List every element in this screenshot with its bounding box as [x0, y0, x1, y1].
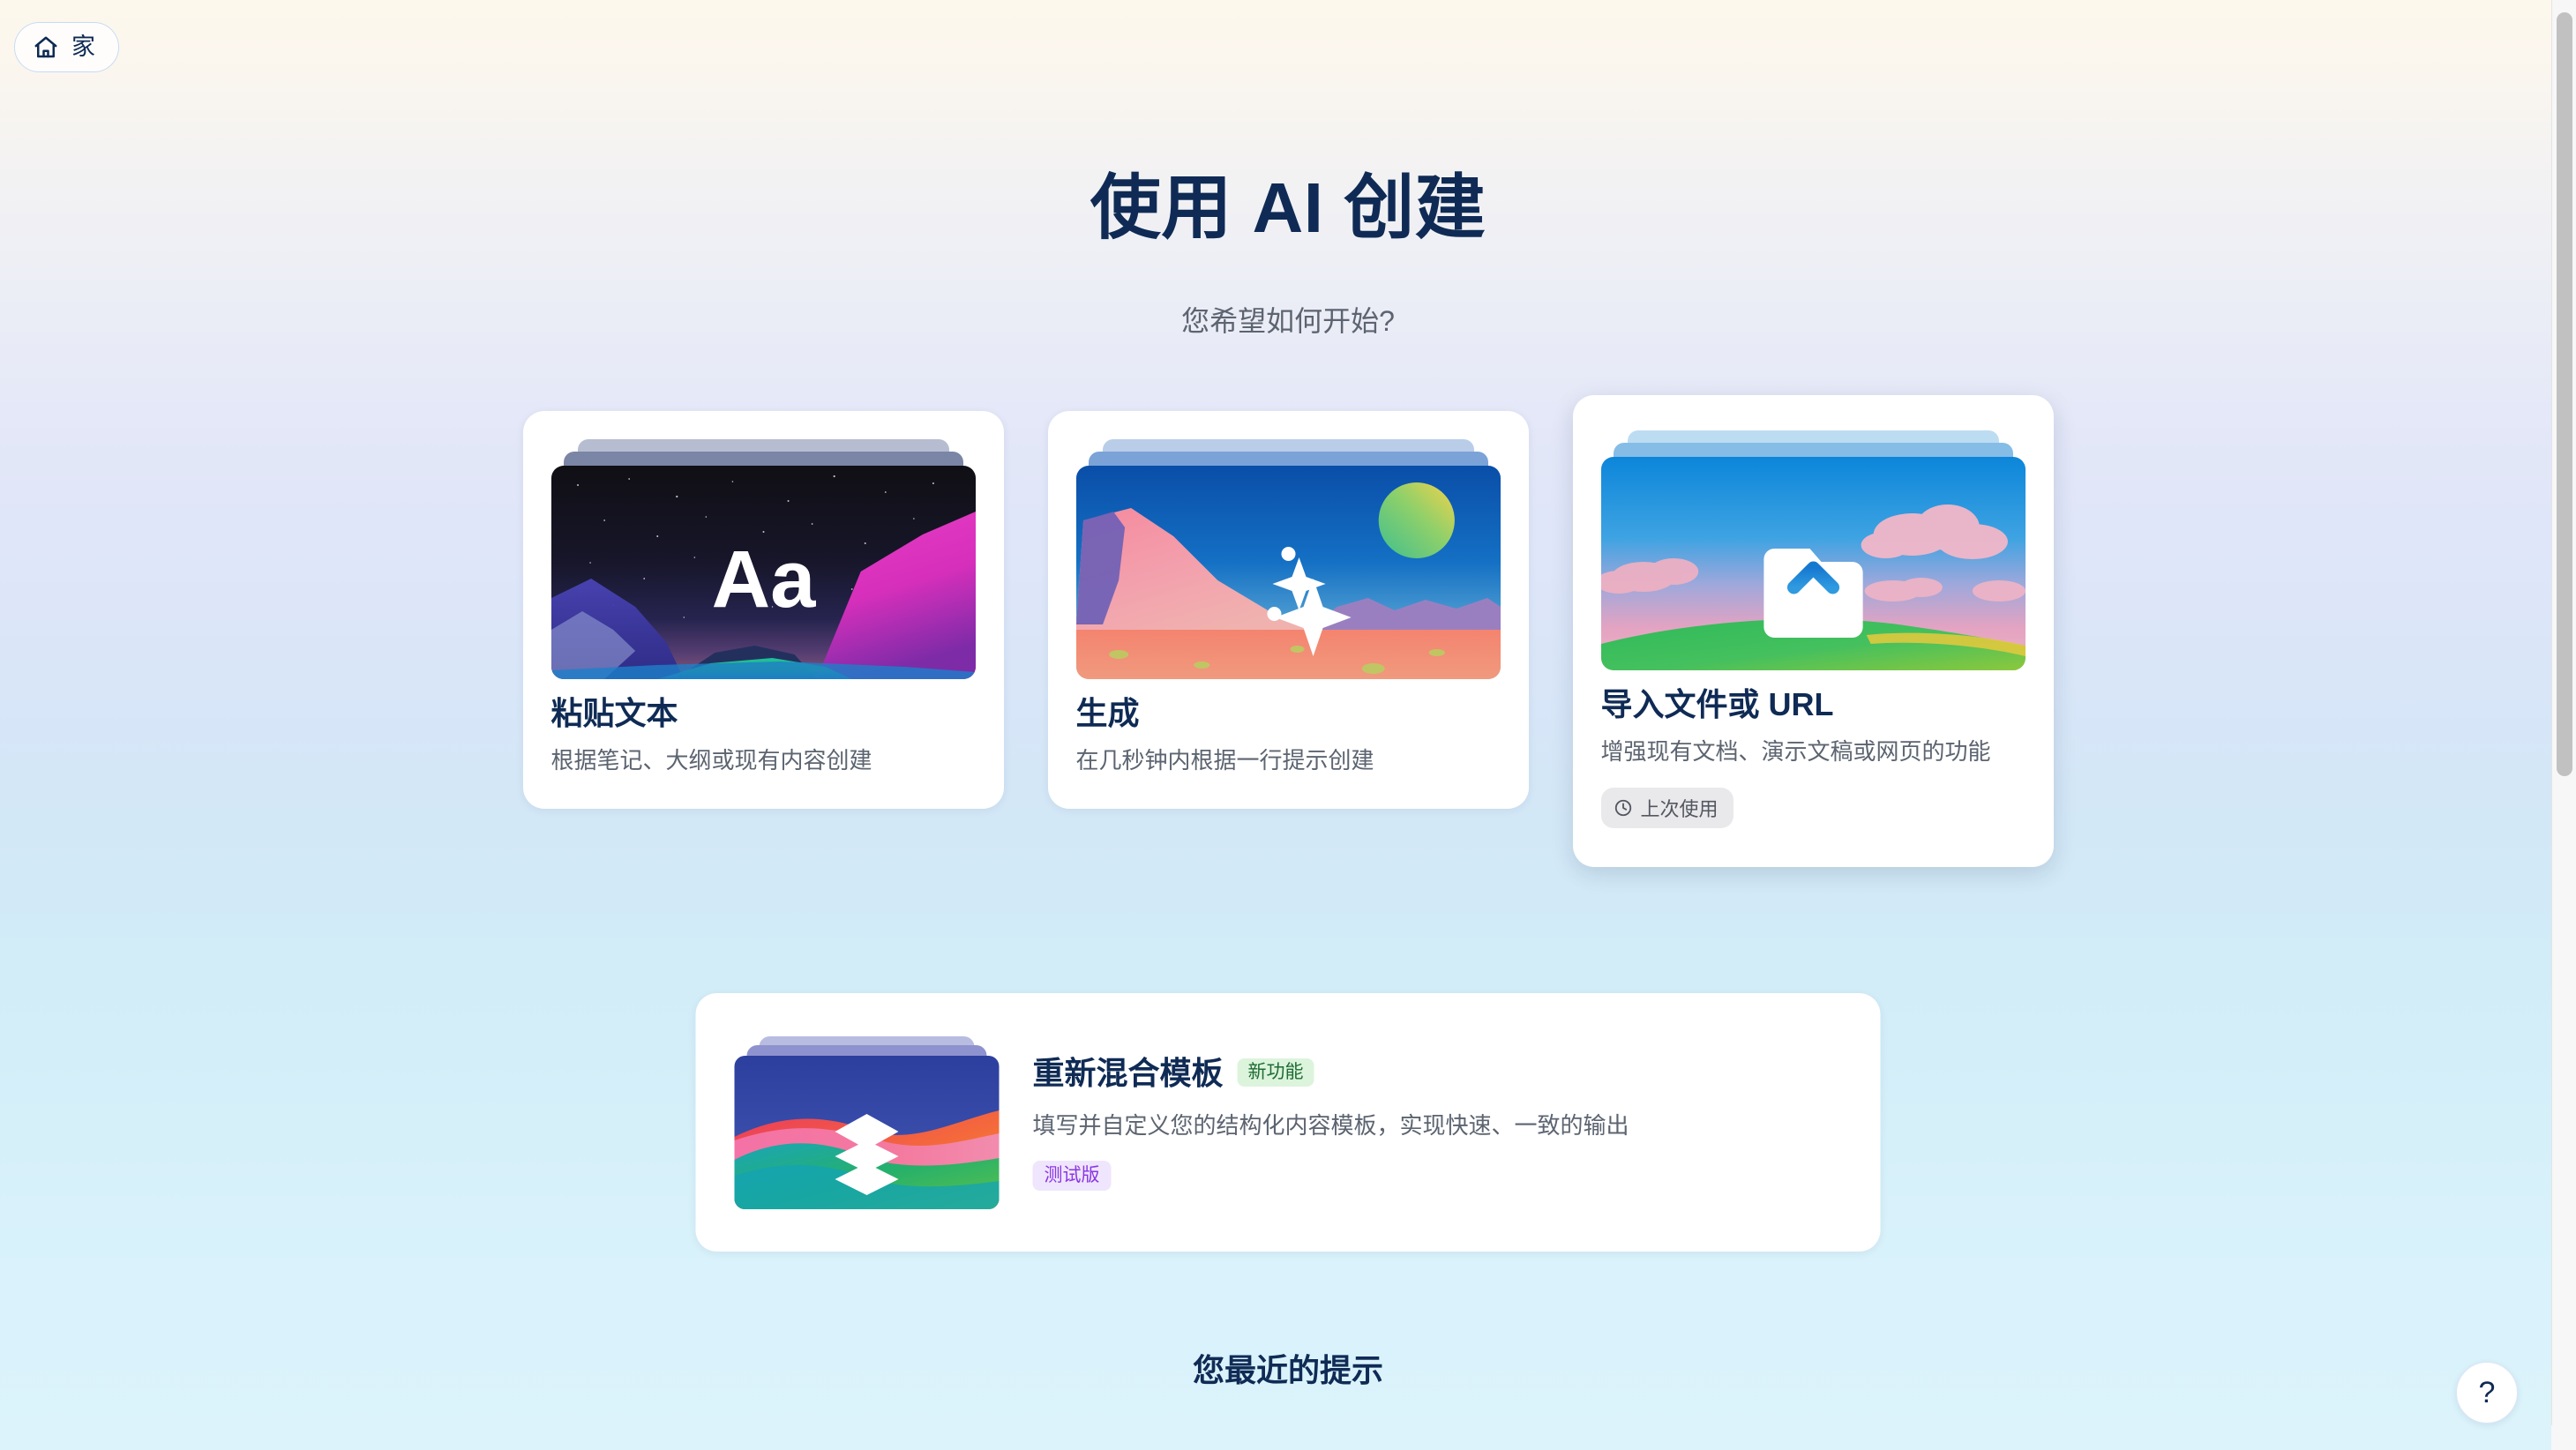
badge-new-feature: 新功能 [1238, 1058, 1314, 1087]
remix-text-block: 重新混合模板 新功能 填写并自定义您的结构化内容模板，实现快速、一致的输出 测试… [1033, 1054, 1842, 1192]
page-subtitle: 您希望如何开始? [0, 307, 2576, 335]
import-image [1601, 457, 2026, 670]
create-with-ai-page: 家 使用 AI 创建 您希望如何开始? [0, 0, 2576, 1450]
card-generate-desc: 在几秒钟内根据一行提示创建 [1076, 744, 1501, 777]
badge-beta: 测试版 [1033, 1161, 1112, 1191]
home-button[interactable]: 家 [14, 22, 119, 72]
clock-icon [1614, 798, 1633, 818]
paste-text-thumbnail: Aa [551, 439, 976, 679]
remix-title: 重新混合模板 [1033, 1054, 1224, 1092]
home-button-label: 家 [71, 35, 95, 59]
card-paste-text-title: 粘贴文本 [551, 693, 976, 733]
remix-thumbnail [735, 1036, 1000, 1209]
option-cards-row: Aa 粘贴文本 根据笔记、大纲或现有内容创建 [0, 411, 2576, 867]
page-title: 使用 AI 创建 [0, 173, 2576, 243]
remix-description: 填写并自定义您的结构化内容模板，实现快速、一致的输出 [1033, 1110, 1842, 1141]
svg-text:Aa: Aa [711, 534, 816, 624]
card-paste-text-desc: 根据笔记、大纲或现有内容创建 [551, 744, 976, 777]
import-thumbnail [1601, 430, 2026, 670]
card-import-desc: 增强现有文档、演示文稿或网页的功能 [1601, 736, 2026, 768]
status-badge-last-used: 上次使用 [1601, 788, 1734, 828]
scrollbar-corner [2551, 1425, 2576, 1450]
card-generate-title: 生成 [1076, 693, 1501, 733]
card-generate[interactable]: 生成 在几秒钟内根据一行提示创建 [1048, 411, 1529, 809]
generate-image [1076, 466, 1501, 679]
card-import-title: 导入文件或 URL [1601, 684, 2026, 724]
recent-prompts-heading: 您最近的提示 [0, 1355, 2576, 1386]
card-remix-template[interactable]: 重新混合模板 新功能 填写并自定义您的结构化内容模板，实现快速、一致的输出 测试… [696, 993, 1881, 1252]
page-scrollbar[interactable] [2551, 0, 2576, 1450]
generate-thumbnail [1076, 439, 1501, 679]
card-paste-text[interactable]: Aa 粘贴文本 根据笔记、大纲或现有内容创建 [523, 411, 1004, 809]
last-used-label: 上次使用 [1641, 794, 1719, 822]
remix-image [735, 1056, 1000, 1209]
card-import-file-or-url[interactable]: 导入文件或 URL 增强现有文档、演示文稿或网页的功能 上次使用 [1573, 395, 2054, 867]
remix-title-row: 重新混合模板 新功能 [1033, 1054, 1842, 1092]
paste-text-image: Aa [551, 466, 976, 679]
help-icon: ? [2479, 1376, 2496, 1410]
home-icon [33, 34, 59, 61]
scrollbar-thumb[interactable] [2557, 12, 2572, 776]
help-button[interactable]: ? [2456, 1362, 2518, 1424]
